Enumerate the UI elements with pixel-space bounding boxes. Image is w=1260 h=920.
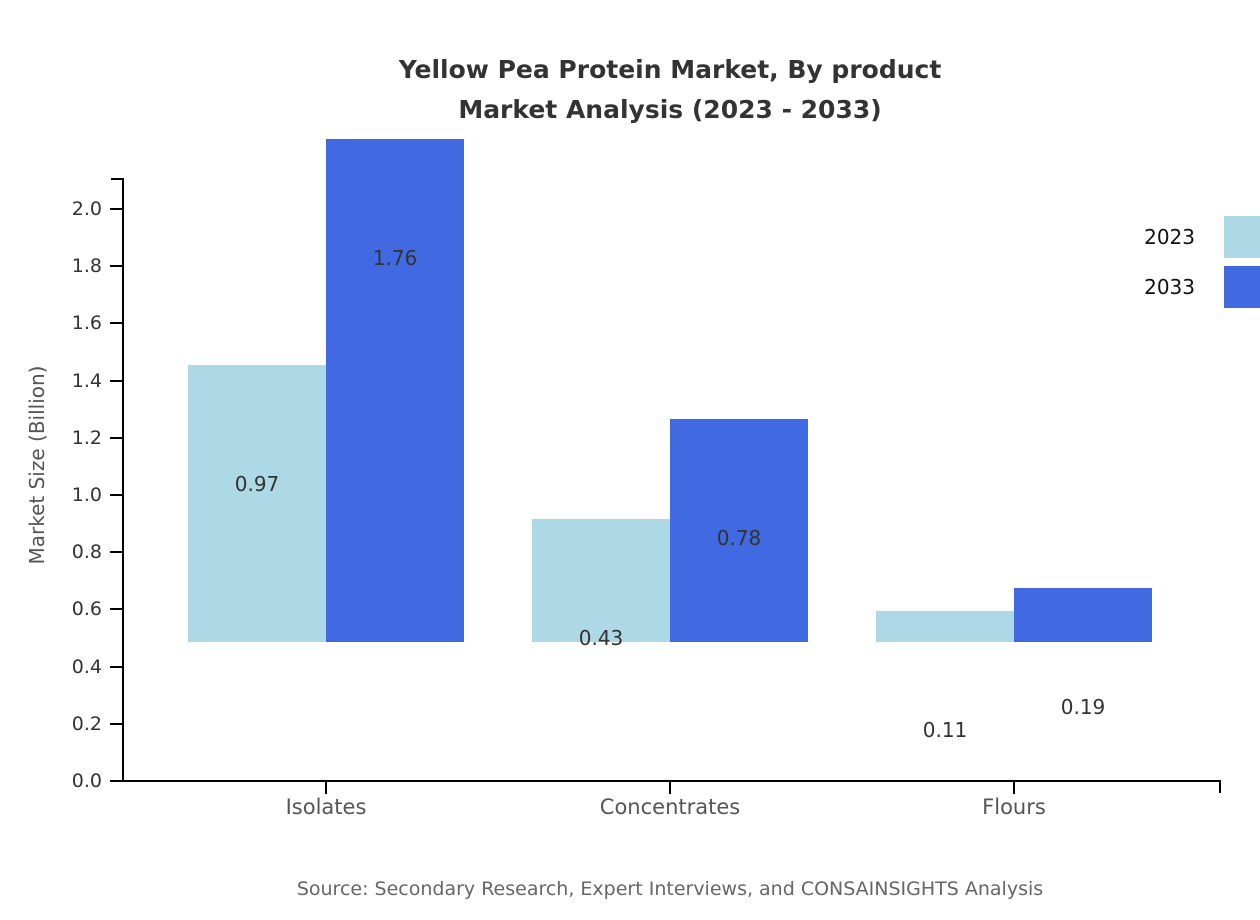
bar-isolates-2023[interactable] (188, 365, 326, 642)
bars-layer: 0.971.760.430.780.110.19 (0, 0, 1260, 781)
legend-item-2023[interactable]: 2023 (1130, 216, 1260, 266)
bar-isolates-2033[interactable] (326, 139, 464, 642)
bar-value-label: 0.43 (579, 626, 624, 650)
legend-label: 2033 (1130, 275, 1195, 299)
bar-flours-2033[interactable] (1014, 588, 1152, 642)
x-tick-label-isolates: Isolates (286, 795, 367, 819)
source-note: Source: Secondary Research, Expert Inter… (0, 878, 1260, 900)
bar-value-label: 0.11 (923, 718, 968, 742)
bar-value-label: 0.78 (717, 526, 762, 550)
x-tick-mark (325, 782, 327, 794)
legend-color-swatch (1224, 216, 1260, 258)
bar-value-label: 1.76 (373, 246, 418, 270)
bar-concentrates-2023[interactable] (532, 519, 670, 642)
x-axis-right-cap (1219, 780, 1221, 793)
legend-color-swatch (1224, 266, 1260, 308)
bar-value-label: 0.97 (235, 472, 280, 496)
x-tick-label-concentrates: Concentrates (600, 795, 740, 819)
chart-figure: Yellow Pea Protein Market, By product Ma… (0, 0, 1260, 920)
bar-value-label: 0.19 (1061, 695, 1106, 719)
x-tick-mark (669, 782, 671, 794)
bar-flours-2023[interactable] (876, 611, 1014, 642)
legend-item-2033[interactable]: 2033 (1130, 266, 1260, 316)
chart-legend: 20232033 (1130, 216, 1260, 316)
x-tick-mark (1013, 782, 1015, 794)
x-tick-label-flours: Flours (982, 795, 1046, 819)
legend-label: 2023 (1130, 225, 1195, 249)
